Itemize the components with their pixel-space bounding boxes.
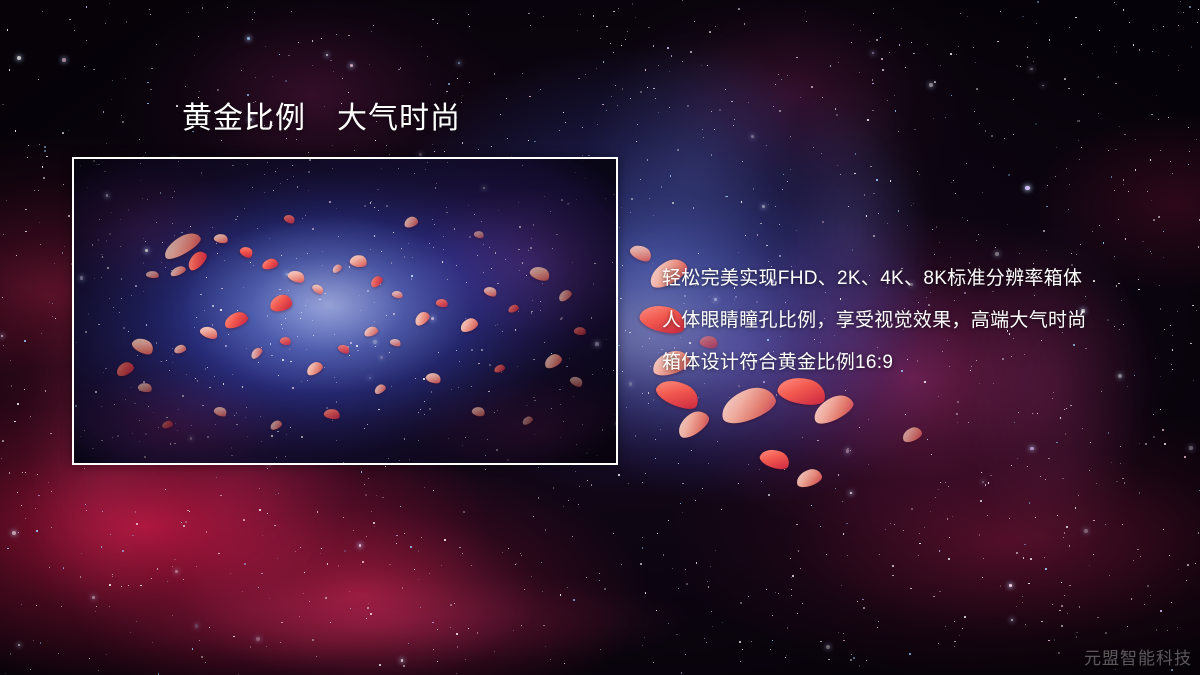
petal (717, 382, 780, 428)
body-line-3: 箱体设计符合黄金比例16:9 (662, 342, 1162, 384)
petal (758, 445, 793, 473)
body-line-1: 轻松完美实现FHD、2K、4K、8K标准分辨率箱体 (662, 258, 1162, 300)
petal (628, 241, 654, 264)
slide-canvas: 黄金比例 大气时尚 轻松完美实现FHD、2K、4K、8K标准分辨率箱体 人体眼睛… (0, 0, 1200, 675)
body-copy: 轻松完美实现FHD、2K、4K、8K标准分辨率箱体 人体眼睛瞳孔比例，享受视觉效… (662, 258, 1162, 384)
watermark: 元盟智能科技 (1084, 644, 1192, 669)
photo-image (74, 159, 616, 463)
framed-photo (72, 157, 618, 465)
page-title: 黄金比例 大气时尚 (182, 101, 461, 137)
petal (794, 467, 823, 490)
photo-vignette (74, 159, 616, 463)
petal (900, 425, 923, 444)
petal (673, 407, 712, 442)
body-line-2: 人体眼睛瞳孔比例，享受视觉效果，高端大气时尚 (662, 300, 1162, 342)
